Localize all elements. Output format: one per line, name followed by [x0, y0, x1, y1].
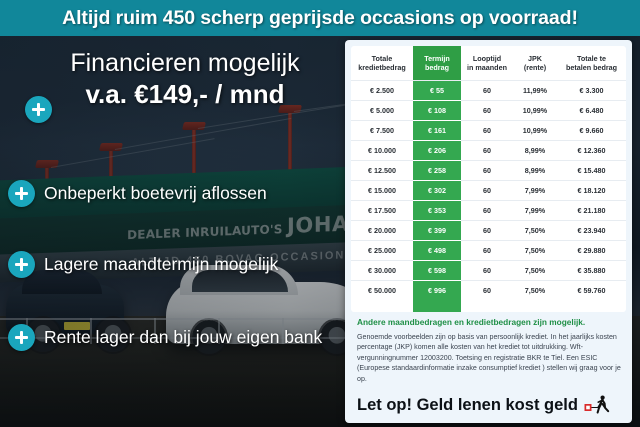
table-cell: 7,99% [513, 181, 557, 201]
table-cell: € 7.500 [351, 121, 413, 141]
table-cell: 60 [461, 101, 513, 121]
table-cell: € 996 [413, 281, 461, 301]
table-cell: 7,50% [513, 221, 557, 241]
table-row: € 50.000€ 996607,50%€ 59.760 [351, 281, 626, 301]
credit-warning: Let op! Geld lenen kost geld [357, 395, 623, 415]
table-head: Totale kredietbedrag Termijn bedrag Loop… [351, 46, 626, 81]
header-line: kredietbedrag [358, 63, 406, 72]
table-cell: € 12.500 [351, 161, 413, 181]
table-cell: € 15.000 [351, 181, 413, 201]
table-cell: € 21.180 [557, 201, 626, 221]
finance-table-wrapper: Totale kredietbedrag Termijn bedrag Loop… [351, 46, 626, 312]
table-cell: € 10.000 [351, 141, 413, 161]
table-cell: 7,50% [513, 241, 557, 261]
column-header-term-months: Looptijd in maanden [461, 46, 513, 81]
table-cell: 8,99% [513, 161, 557, 181]
finance-table: Totale kredietbedrag Termijn bedrag Loop… [351, 46, 626, 300]
headline-line-2: v.a. €149,- / mnd [30, 78, 340, 110]
table-cell: 60 [461, 201, 513, 221]
column-header-total-payable: Totale te betalen bedrag [557, 46, 626, 81]
table-cell: € 18.120 [557, 181, 626, 201]
table-cell: € 35.880 [557, 261, 626, 281]
table-row: € 5.000€ 1086010,99%€ 6.480 [351, 101, 626, 121]
headline: Financieren mogelijk v.a. €149,- / mnd [30, 48, 340, 110]
headline-line-1: Financieren mogelijk [30, 48, 340, 78]
benefit-item-2: Lagere maandtermijn mogelijk [8, 251, 278, 278]
table-cell: 60 [461, 241, 513, 261]
table-cell: € 108 [413, 101, 461, 121]
note-body: Genoemde voorbeelden zijn op basis van p… [357, 332, 623, 384]
table-cell: € 498 [413, 241, 461, 261]
table-cell: € 3.300 [557, 81, 626, 101]
table-cell: € 399 [413, 221, 461, 241]
table-cell: € 2.500 [351, 81, 413, 101]
header-line: betalen bedrag [566, 63, 617, 72]
table-cell: € 302 [413, 181, 461, 201]
table-cell: 60 [461, 81, 513, 101]
table-row: € 2.500€ 556011,99%€ 3.300 [351, 81, 626, 101]
table-cell: € 23.940 [557, 221, 626, 241]
table-cell: 60 [461, 261, 513, 281]
plus-icon [8, 180, 35, 207]
table-cell: 7,50% [513, 261, 557, 281]
table-cell: € 30.000 [351, 261, 413, 281]
header-line: Termijn [424, 54, 449, 63]
table-cell: € 598 [413, 261, 461, 281]
benefit-label: Lagere maandtermijn mogelijk [44, 254, 278, 275]
header-line: JPK [528, 54, 542, 63]
table-cell: € 258 [413, 161, 461, 181]
table-cell: 60 [461, 161, 513, 181]
table-row: € 12.500€ 258608,99%€ 15.480 [351, 161, 626, 181]
table-cell: 60 [461, 141, 513, 161]
table-row: € 20.000€ 399607,50%€ 23.940 [351, 221, 626, 241]
table-cell: € 206 [413, 141, 461, 161]
finance-table-card: Totale kredietbedrag Termijn bedrag Loop… [345, 40, 632, 423]
benefit-label: Onbeperkt boetevrij aflossen [44, 183, 267, 204]
table-row: € 30.000€ 598607,50%€ 35.880 [351, 261, 626, 281]
column-header-total-credit: Totale kredietbedrag [351, 46, 413, 81]
benefit-item-1: Onbeperkt boetevrij aflossen [8, 180, 267, 207]
table-cell: € 20.000 [351, 221, 413, 241]
table-cell: € 17.500 [351, 201, 413, 221]
table-cell: € 12.360 [557, 141, 626, 161]
header-line: (rente) [524, 63, 546, 72]
column-header-monthly-amount: Termijn bedrag [413, 46, 461, 81]
table-cell: € 59.760 [557, 281, 626, 301]
table-cell: € 50.000 [351, 281, 413, 301]
banner-headline: Altijd ruim 450 scherp geprijsde occasio… [62, 7, 578, 30]
table-cell: € 25.000 [351, 241, 413, 261]
benefit-item-3: Rente lager dan bij jouw eigen bank [8, 324, 322, 351]
table-cell: 60 [461, 221, 513, 241]
table-row: € 7.500€ 1616010,99%€ 9.660 [351, 121, 626, 141]
top-banner: Altijd ruim 450 scherp geprijsde occasio… [0, 0, 640, 36]
table-body: € 2.500€ 556011,99%€ 3.300€ 5.000€ 10860… [351, 81, 626, 301]
table-cell: 7,99% [513, 201, 557, 221]
table-header-row: Totale kredietbedrag Termijn bedrag Loop… [351, 46, 626, 81]
left-content: Financieren mogelijk v.a. €149,- / mnd O… [0, 36, 345, 427]
column-header-apr: JPK (rente) [513, 46, 557, 81]
header-line: in maanden [467, 63, 507, 72]
table-cell: 11,99% [513, 81, 557, 101]
table-cell: 60 [461, 121, 513, 141]
benefit-label: Rente lager dan bij jouw eigen bank [44, 327, 322, 348]
table-cell: € 55 [413, 81, 461, 101]
afm-walking-figure-icon [584, 395, 610, 415]
table-cell: € 6.480 [557, 101, 626, 121]
table-cell: 8,99% [513, 141, 557, 161]
table-row: € 25.000€ 498607,50%€ 29.880 [351, 241, 626, 261]
table-cell: € 353 [413, 201, 461, 221]
table-cell: € 9.660 [557, 121, 626, 141]
plus-icon [8, 324, 35, 351]
highlight-column-tail [413, 300, 461, 312]
table-cell: 60 [461, 281, 513, 301]
header-line: Totale [372, 54, 393, 63]
table-cell: € 161 [413, 121, 461, 141]
table-cell: € 29.880 [557, 241, 626, 261]
table-row: € 17.500€ 353607,99%€ 21.180 [351, 201, 626, 221]
table-cell: € 15.480 [557, 161, 626, 181]
table-cell: € 5.000 [351, 101, 413, 121]
table-row: € 10.000€ 206608,99%€ 12.360 [351, 141, 626, 161]
header-line: Totale te [577, 54, 606, 63]
header-line: bedrag [425, 63, 449, 72]
advertisement-banner: DEALER INRUILAUTO'S JOHAN MEURE ALTIJD 4… [0, 0, 640, 427]
table-cell: 10,99% [513, 101, 557, 121]
header-line: Looptijd [473, 54, 501, 63]
table-cell: 60 [461, 181, 513, 201]
note-title: Andere maandbedragen en kredietbedragen … [357, 317, 623, 327]
table-cell: 10,99% [513, 121, 557, 141]
plus-icon [8, 251, 35, 278]
disclaimer-note: Andere maandbedragen en kredietbedragen … [357, 317, 623, 384]
table-cell: 7,50% [513, 281, 557, 301]
warning-text: Let op! Geld lenen kost geld [357, 396, 578, 415]
table-row: € 15.000€ 302607,99%€ 18.120 [351, 181, 626, 201]
